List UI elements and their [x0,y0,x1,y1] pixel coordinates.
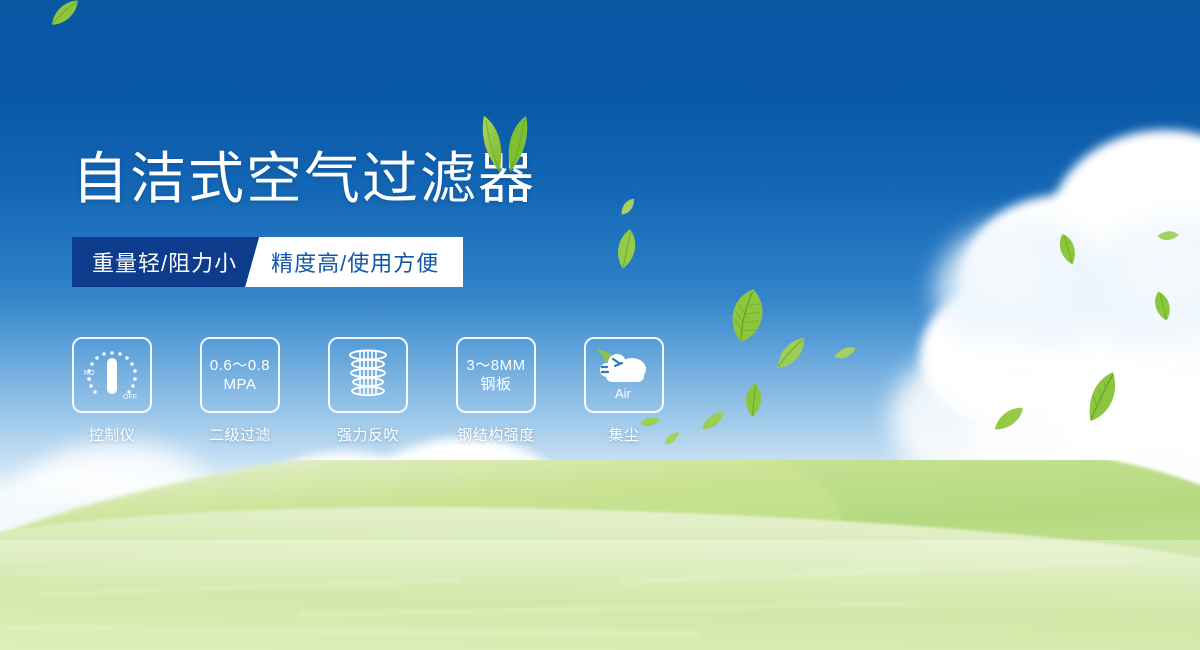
leaf-icon [833,344,857,363]
subtitle-segment-right: 精度高/使用方便 [245,237,463,287]
feature-icon-box: 3～8MM 钢板 [456,337,536,413]
sprout-leaves-icon [470,112,540,174]
leaf-icon [740,381,768,419]
cloud-large-right [900,100,1200,460]
gauge-icon: NO OFF [81,346,143,404]
feature-label: 二级过滤 [209,424,271,445]
leaf-icon [718,282,778,350]
feature-label: 强力反吹 [337,424,399,445]
hero-banner: 自洁式空气过滤器 重量轻/阻力小 精度高/使用方便 [0,0,1200,650]
leaf-icon [699,410,727,431]
feature-item-two-stage-filter[interactable]: 0.6～0.8 MPA 二级过滤 [200,337,280,445]
leaf-icon [990,405,1028,434]
subtitle-segment-left: 重量轻/阻力小 [72,237,259,287]
feature-icon-box: NO OFF [72,337,152,413]
leaf-icon [1155,224,1180,248]
feature-item-strong-backblow[interactable]: 强力反吹 [328,337,408,445]
pressure-range-text: 0.6～0.8 [210,356,270,375]
feature-item-control-gauge[interactable]: NO OFF 控制仪 [72,337,152,445]
feature-label: 控制仪 [89,424,136,445]
feature-list: NO OFF 控制仪 0.6～0.8 MPA 二级过滤 [72,337,664,445]
feature-icon-box [328,337,408,413]
steel-thickness-text: 3～8MM [466,356,525,375]
leaf-icon [662,431,682,447]
pressure-unit-text: MPA [224,375,257,394]
feature-icon-box: Air [584,337,664,413]
leaf-icon [616,196,640,217]
leaf-icon [769,334,814,372]
feature-item-steel-strength[interactable]: 3～8MM 钢板 钢结构强度 [456,337,536,445]
air-label: Air [615,386,632,401]
feature-label: 钢结构强度 [457,424,535,445]
feature-item-dust-collection[interactable]: Air 集尘 [584,337,664,445]
steel-plate-text: 钢板 [480,375,511,394]
leaf-icon [610,226,644,272]
gauge-on-label: NO [84,370,95,377]
leaf-icon [1148,288,1177,324]
subtitle-bar: 重量轻/阻力小 精度高/使用方便 [72,237,463,287]
cloud-air-icon: Air [593,346,655,404]
page-title: 自洁式空气过滤器 [72,148,536,210]
feature-label: 集尘 [608,424,639,445]
grass-field [0,460,1200,650]
feature-icon-box: 0.6～0.8 MPA [200,337,280,413]
gauge-off-label: OFF [123,394,137,401]
filter-cartridge-icon [340,346,396,404]
leaf-icon [1072,369,1133,426]
leaf-icon [1053,230,1084,269]
leaf-icon [45,0,84,29]
